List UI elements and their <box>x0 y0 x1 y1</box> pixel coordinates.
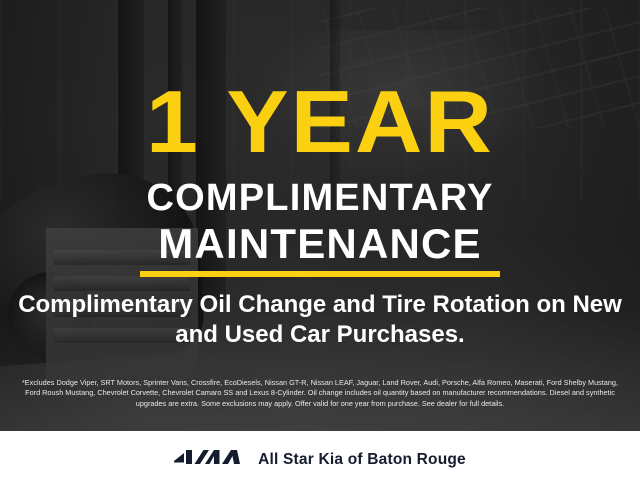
promotional-banner: 1 YEAR COMPLIMENTARY MAINTENANCE Complim… <box>0 0 640 488</box>
headline-line-three: MAINTENANCE <box>0 222 640 266</box>
dealer-footer: All Star Kia of Baton Rouge <box>0 431 640 488</box>
headline-year: 1 YEAR <box>0 78 640 166</box>
kia-logo-icon <box>174 446 240 473</box>
dealer-name: All Star Kia of Baton Rouge <box>258 451 466 469</box>
yellow-divider <box>140 271 500 277</box>
subheadline: Complimentary Oil Change and Tire Rotati… <box>0 290 640 350</box>
headline-line-two: COMPLIMENTARY <box>0 178 640 218</box>
disclaimer-text: *Excludes Dodge Viper, SRT Motors, Sprin… <box>18 378 622 409</box>
banner-content: 1 YEAR COMPLIMENTARY MAINTENANCE Complim… <box>0 0 640 431</box>
